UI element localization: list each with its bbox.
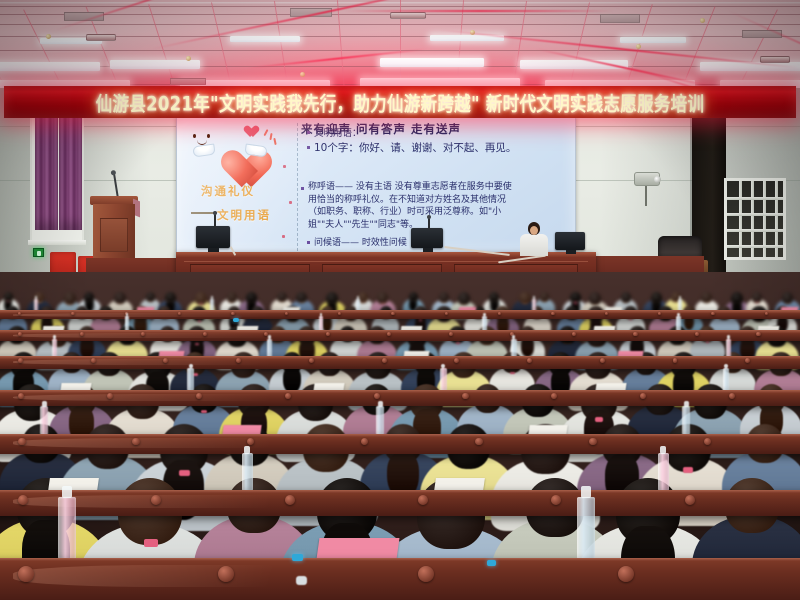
audience-member-head <box>621 292 631 303</box>
desk-knob <box>285 393 291 399</box>
slide-bullet-line: 文明用语： <box>307 125 362 139</box>
heart-face <box>191 134 213 144</box>
slide-accent-square <box>289 201 292 204</box>
desk-knob <box>151 495 161 505</box>
microphone-icon <box>214 214 216 228</box>
desk-knob <box>18 495 28 505</box>
desk-row <box>0 330 800 341</box>
desk-knob <box>551 495 561 505</box>
bullet-icon <box>301 187 304 190</box>
barred-window <box>724 178 786 260</box>
desk-knob <box>618 566 634 582</box>
slide-line-text: 姐""夫人""先生""同志"等。 <box>308 219 512 232</box>
slide-paragraph: 称呼语—— 没有主语 没有尊重志愿者在服务中要使 用恰当的称呼礼仪。在不知道对方… <box>308 181 512 231</box>
ceiling-vent <box>170 78 206 85</box>
sparkle-icon <box>263 129 268 136</box>
sprinkler-head <box>300 72 305 77</box>
curtain-panel <box>35 116 58 230</box>
hair-tie <box>510 372 515 374</box>
desk-knob <box>391 312 394 315</box>
desk-top-edge <box>0 558 800 561</box>
sprinkler-head <box>636 44 641 49</box>
heart-eye <box>207 134 210 138</box>
hair-tie <box>574 302 576 303</box>
desk-knob <box>633 332 637 336</box>
desk-highlight <box>13 313 383 317</box>
water-bottle <box>242 453 253 492</box>
desk-row <box>0 356 800 369</box>
audience-member-head <box>277 292 286 302</box>
monitor-stand <box>423 248 433 252</box>
projector-cable <box>645 186 647 206</box>
ceiling-speaker <box>86 34 116 41</box>
slide-bullet-line: 问候语—— 时效性问候 <box>307 235 407 248</box>
ceiling-speaker <box>390 12 426 19</box>
desk-knob <box>107 393 113 399</box>
monitor <box>411 228 443 248</box>
water-bottle <box>658 453 669 492</box>
desk-knob <box>231 312 234 315</box>
desk-knob <box>18 393 24 399</box>
desk-highlight <box>13 359 383 365</box>
desk-knob <box>449 332 453 336</box>
slide-line-text: 称呼语—— 没有主语 没有尊重志愿者在服务中要使 <box>308 181 512 194</box>
desk-top-edge <box>0 390 800 393</box>
desk-knob <box>589 438 597 446</box>
desk-knob <box>475 438 483 446</box>
audience-member-head <box>64 292 76 305</box>
monitor-stand <box>566 250 576 254</box>
hair-tie <box>595 417 603 421</box>
hair-tie <box>419 319 422 321</box>
hair-tie <box>756 302 758 303</box>
curtain-panel <box>59 116 82 230</box>
slide-line-text: （如职务、职称、行业）时可采用泛尊称。如"小 <box>308 206 512 219</box>
audience-member-head <box>296 292 307 303</box>
podium <box>90 196 138 258</box>
ceiling-light-panel <box>380 58 484 67</box>
window-bar <box>727 197 783 200</box>
monitor <box>555 232 585 250</box>
desk-highlight <box>13 565 383 587</box>
small-heart-icon <box>241 121 255 134</box>
water-bottle <box>723 368 730 392</box>
heart-icon <box>212 135 258 177</box>
microphone-icon <box>428 218 430 230</box>
hair-tie <box>195 343 199 345</box>
audience-member-head <box>752 292 762 303</box>
banner-text: 仙游县2021年"文明实践我先行，助力仙游新跨越" 新时代文明实践志愿服务培训 <box>96 88 705 116</box>
desk-knob <box>203 332 207 336</box>
audience-member-head <box>458 292 470 305</box>
desk-knob <box>551 312 554 315</box>
ceiling-light-panel <box>620 37 686 43</box>
slide-accent-square <box>283 165 286 168</box>
presenter-face <box>530 226 538 235</box>
ceiling-light-panel <box>230 36 300 42</box>
water-bottle <box>682 406 690 436</box>
desk-knob <box>326 332 330 336</box>
slide-divider <box>297 123 298 251</box>
projection-screen: 沟通礼仪 文明用语 文明用语： 10个字：你好、请、谢谢、对不起、再见。 来有迎… <box>176 116 576 254</box>
smartphone <box>233 318 239 322</box>
sprinkler-head <box>186 56 191 61</box>
audience-member-head <box>782 292 793 304</box>
hair-tie <box>144 539 158 547</box>
desk-knob <box>418 566 434 582</box>
desk-top-edge <box>0 434 800 437</box>
desk-top-edge <box>0 490 800 493</box>
bullet-icon <box>307 146 310 149</box>
desk-knob <box>80 332 84 336</box>
water-bottle <box>187 368 194 392</box>
desk-knob <box>18 438 26 446</box>
podium-body <box>93 204 135 258</box>
desk-knob <box>91 358 96 363</box>
handout-paper <box>316 538 399 559</box>
smartphone <box>292 554 303 561</box>
audience-member-head <box>701 292 712 303</box>
audience-member-head <box>589 292 601 305</box>
slide-bullet-line: 10个字：你好、请、谢谢、对不起、再见。 <box>307 140 516 155</box>
desk-knob <box>285 312 288 315</box>
bullet-icon <box>307 131 310 134</box>
ceiling-tile-line <box>568 2 590 92</box>
led-banner: 仙游县2021年"文明实践我先行，助力仙游新跨越" 新时代文明实践志愿服务培训 <box>4 86 796 118</box>
desk-knob <box>18 566 34 582</box>
water-bottle <box>440 368 447 392</box>
audience-member-head <box>519 292 530 304</box>
bullet-icon <box>307 241 310 244</box>
desk-row <box>0 390 800 406</box>
window-sill <box>28 240 86 245</box>
desk-row <box>0 490 800 516</box>
ceiling-speaker <box>760 56 790 63</box>
projector <box>634 172 660 186</box>
slide-line-text: 用恰当的称呼礼仪。在不知道对方姓名及其他情况 <box>308 194 512 207</box>
banner-light-reflection <box>344 10 614 12</box>
audience-member-head <box>114 292 125 304</box>
audience-member-head <box>227 292 237 303</box>
window-bar <box>727 245 783 248</box>
desk-knob <box>418 495 428 505</box>
photograph-scene: 沟通礼仪 文明用语 文明用语： 10个字：你好、请、谢谢、对不起、再见。 来有迎… <box>0 0 800 600</box>
sprinkler-head <box>46 34 51 39</box>
monitor <box>196 226 230 248</box>
desk-knob <box>711 312 714 315</box>
podium-front-panel <box>100 218 128 252</box>
window-bar <box>727 229 783 232</box>
desk-highlight <box>13 438 383 448</box>
monitor-stand <box>208 248 219 252</box>
window-bar <box>727 213 783 216</box>
desk-knob <box>605 312 608 315</box>
audience-member-head <box>146 292 155 302</box>
desk-knob <box>71 312 74 315</box>
audience-member-head <box>540 292 549 302</box>
ceiling-light-panel <box>0 62 100 71</box>
desk-knob <box>132 438 140 446</box>
desk-knob <box>285 495 295 505</box>
window-frame-left <box>30 112 84 244</box>
audience-area <box>0 272 800 600</box>
ceiling-vent <box>600 14 640 23</box>
water-bottle <box>376 406 384 436</box>
desk-knob <box>765 312 768 315</box>
sparkle-icon <box>269 133 272 140</box>
slide-line-text: 文明用语： <box>314 125 362 139</box>
ceiling-tile-line <box>211 2 233 92</box>
desk-knob <box>382 358 387 363</box>
exit-sign-icon <box>33 248 44 257</box>
face-mask <box>296 576 307 585</box>
sparkle-icon <box>273 138 276 145</box>
audience-member-head <box>439 292 450 303</box>
water-bottle <box>577 497 595 560</box>
desk-knob <box>218 566 234 582</box>
heart-eye <box>193 134 196 138</box>
water-bottle <box>58 497 76 560</box>
desk-knob <box>685 495 695 505</box>
desk-knob <box>756 332 760 336</box>
slide-heading-secondary: 文明用语 <box>217 207 271 223</box>
hair-tie <box>198 320 201 322</box>
hair-tie <box>179 470 190 476</box>
smartphone <box>487 560 496 566</box>
presenter-body <box>520 234 548 256</box>
desk-knob <box>196 393 202 399</box>
hair-tie <box>456 342 460 344</box>
table-groove <box>184 261 588 262</box>
sprinkler-head <box>700 18 705 23</box>
ceiling <box>0 0 800 92</box>
ceiling-light-panel <box>110 60 200 69</box>
slide-heading-primary: 沟通礼仪 <box>201 183 255 199</box>
desk-knob <box>445 312 448 315</box>
hair-tie <box>683 467 693 472</box>
water-bottle <box>40 406 48 436</box>
slide-accent-square <box>282 235 285 238</box>
desk-row <box>0 434 800 454</box>
slide-line-text: 10个字：你好、请、谢谢、对不起、再见。 <box>314 140 516 155</box>
desk-knob <box>462 393 468 399</box>
presenter <box>520 222 548 256</box>
slide-line-text: 问候语—— 时效性问候 <box>314 235 407 248</box>
desk-knob <box>374 393 380 399</box>
desk-row <box>0 558 800 600</box>
